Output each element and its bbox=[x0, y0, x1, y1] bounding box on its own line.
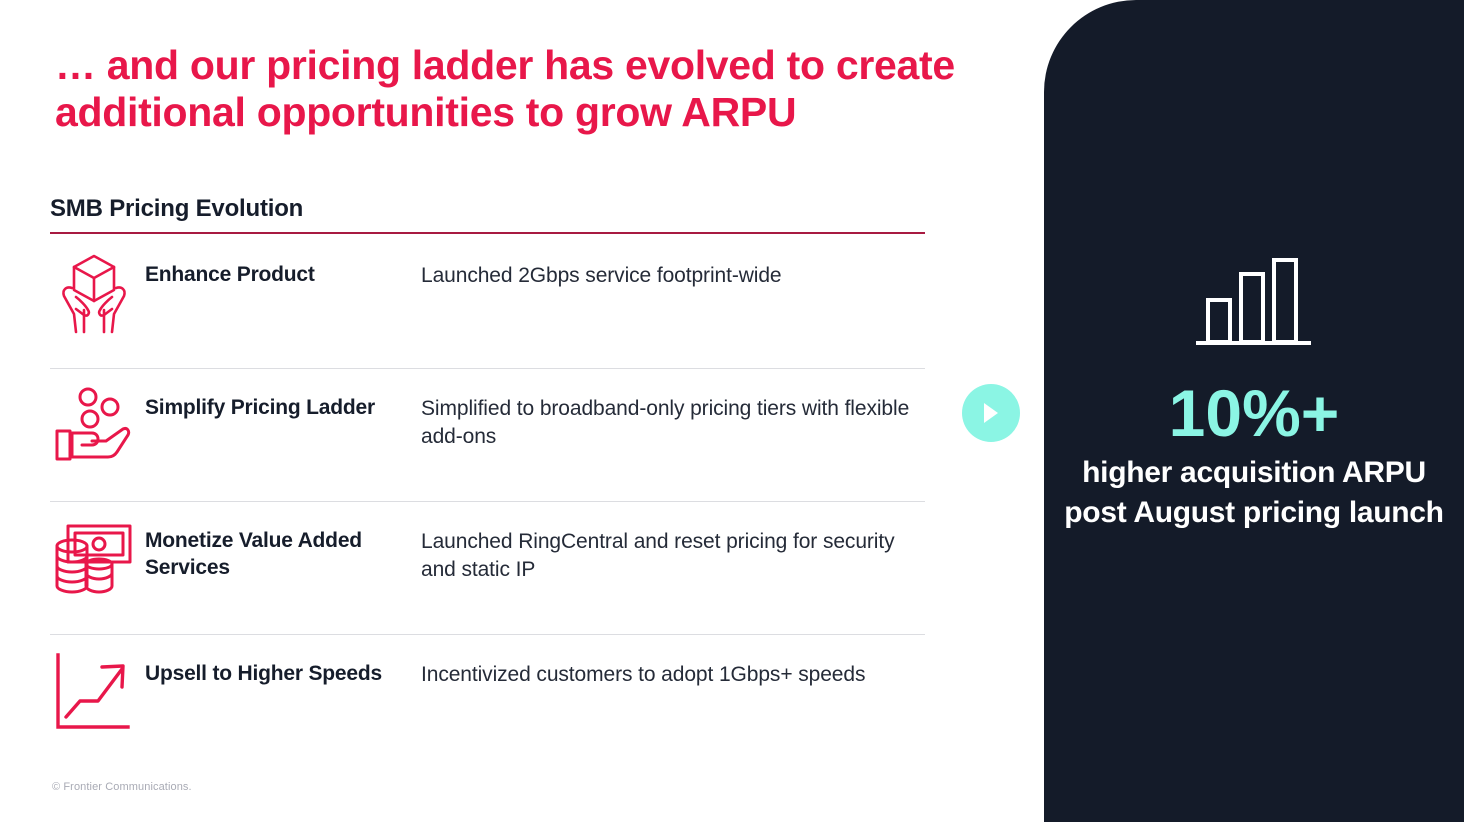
hands-holding-box-icon bbox=[50, 248, 145, 336]
list-item-label: Upsell to Higher Speeds bbox=[145, 647, 421, 688]
play-triangle-icon bbox=[981, 401, 1001, 425]
list-item-description: Incentivized customers to adopt 1Gbps+ s… bbox=[421, 647, 925, 689]
list-item: Simplify Pricing Ladder Simplified to br… bbox=[50, 369, 925, 502]
section-header-label: SMB Pricing Evolution bbox=[50, 195, 925, 232]
pricing-evolution-list: Enhance Product Launched 2Gbps service f… bbox=[50, 236, 925, 768]
list-item: Upsell to Higher Speeds Incentivized cus… bbox=[50, 635, 925, 768]
highlight-panel: 10%+ higher acquisition ARPU post August… bbox=[1044, 0, 1464, 822]
slide-canvas: … and our pricing ladder has evolved to … bbox=[0, 0, 1464, 822]
list-item-description: Simplified to broadband-only pricing tie… bbox=[421, 381, 925, 451]
list-item: Monetize Value Added Services Launched R… bbox=[50, 502, 925, 635]
bar-chart-icon bbox=[1196, 258, 1312, 363]
list-item-label: Enhance Product bbox=[145, 248, 421, 289]
list-item-label: Simplify Pricing Ladder bbox=[145, 381, 421, 422]
page-title: … and our pricing ladder has evolved to … bbox=[55, 42, 1035, 135]
stat-description: higher acquisition ARPU post August pric… bbox=[1044, 453, 1464, 533]
hand-with-coins-icon bbox=[50, 381, 145, 469]
stat-value: 10%+ bbox=[1044, 380, 1464, 446]
copyright-notice: © Frontier Communications. bbox=[52, 781, 192, 793]
list-item: Enhance Product Launched 2Gbps service f… bbox=[50, 236, 925, 369]
list-item-label: Monetize Value Added Services bbox=[145, 514, 421, 582]
list-item-description: Launched RingCentral and reset pricing f… bbox=[421, 514, 925, 584]
list-item-description: Launched 2Gbps service footprint-wide bbox=[421, 248, 925, 290]
section-header: SMB Pricing Evolution bbox=[50, 195, 925, 234]
section-header-rule bbox=[50, 232, 925, 234]
cash-and-coins-icon bbox=[50, 514, 145, 602]
play-button[interactable] bbox=[962, 384, 1020, 442]
growth-arrow-chart-icon bbox=[50, 647, 145, 735]
